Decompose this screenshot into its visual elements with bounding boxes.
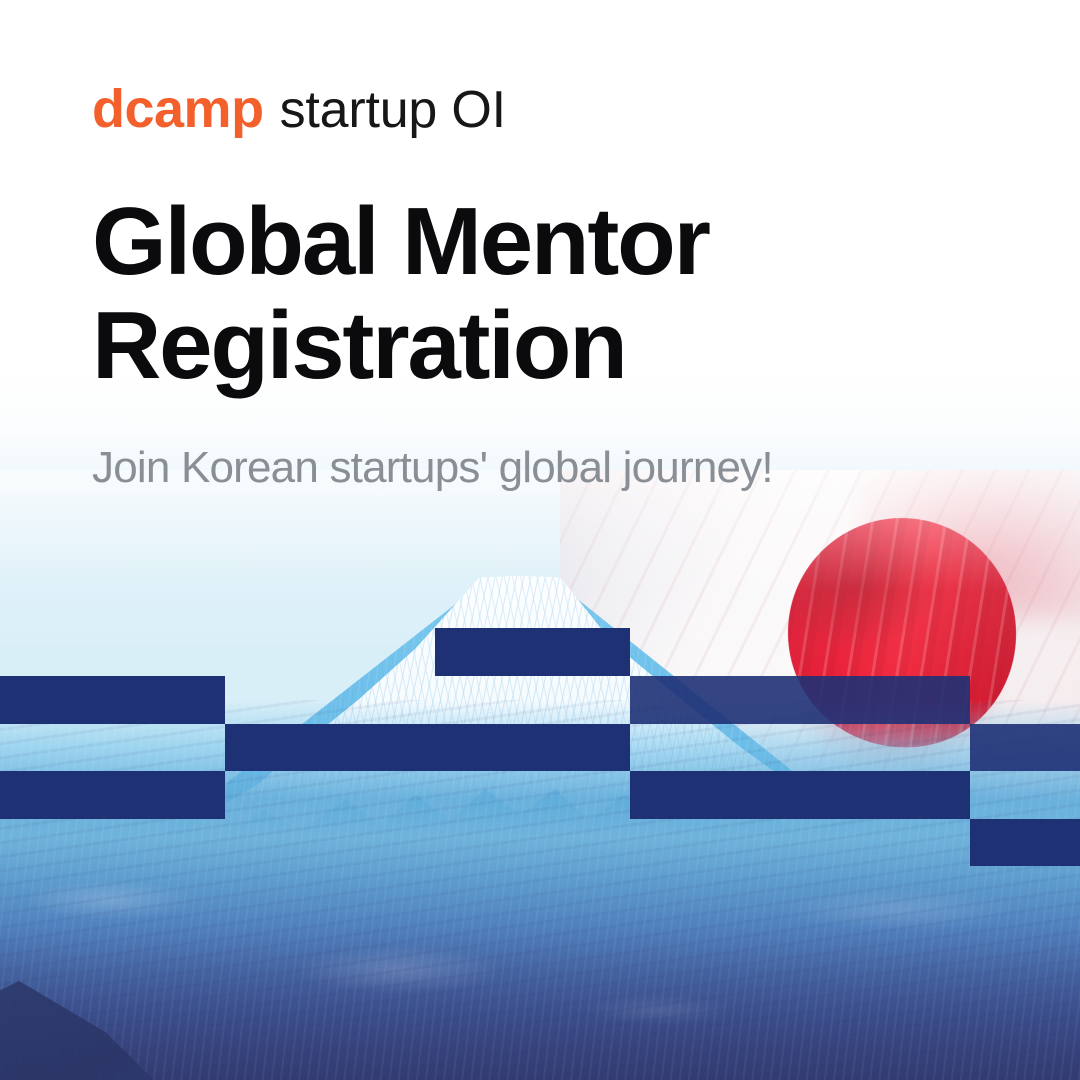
block-r3-c4 [970, 724, 1080, 771]
block-r4-c3 [630, 771, 970, 819]
brand-logo: dcamp startup OI [92, 82, 506, 136]
subtitle: Join Korean startups' global journey! [92, 443, 773, 493]
block-r5-c4 [970, 819, 1080, 866]
block-r2-c0 [0, 676, 225, 724]
block-r4-c0 [0, 771, 225, 819]
navy-block-overlay [0, 0, 1080, 1080]
logo-startup-oi-text: startup OI [280, 84, 506, 136]
poster-canvas: dcamp startup OI Global Mentor Registrat… [0, 0, 1080, 1080]
page-title: Global Mentor Registration [92, 190, 709, 397]
block-r1-c2 [435, 628, 630, 676]
headline-line-1: Global Mentor [92, 188, 709, 295]
logo-dcamp-wordmark: dcamp [92, 82, 264, 136]
block-r2-c3 [630, 676, 970, 724]
block-r3-c1 [225, 724, 630, 771]
headline-line-2: Registration [92, 294, 709, 398]
